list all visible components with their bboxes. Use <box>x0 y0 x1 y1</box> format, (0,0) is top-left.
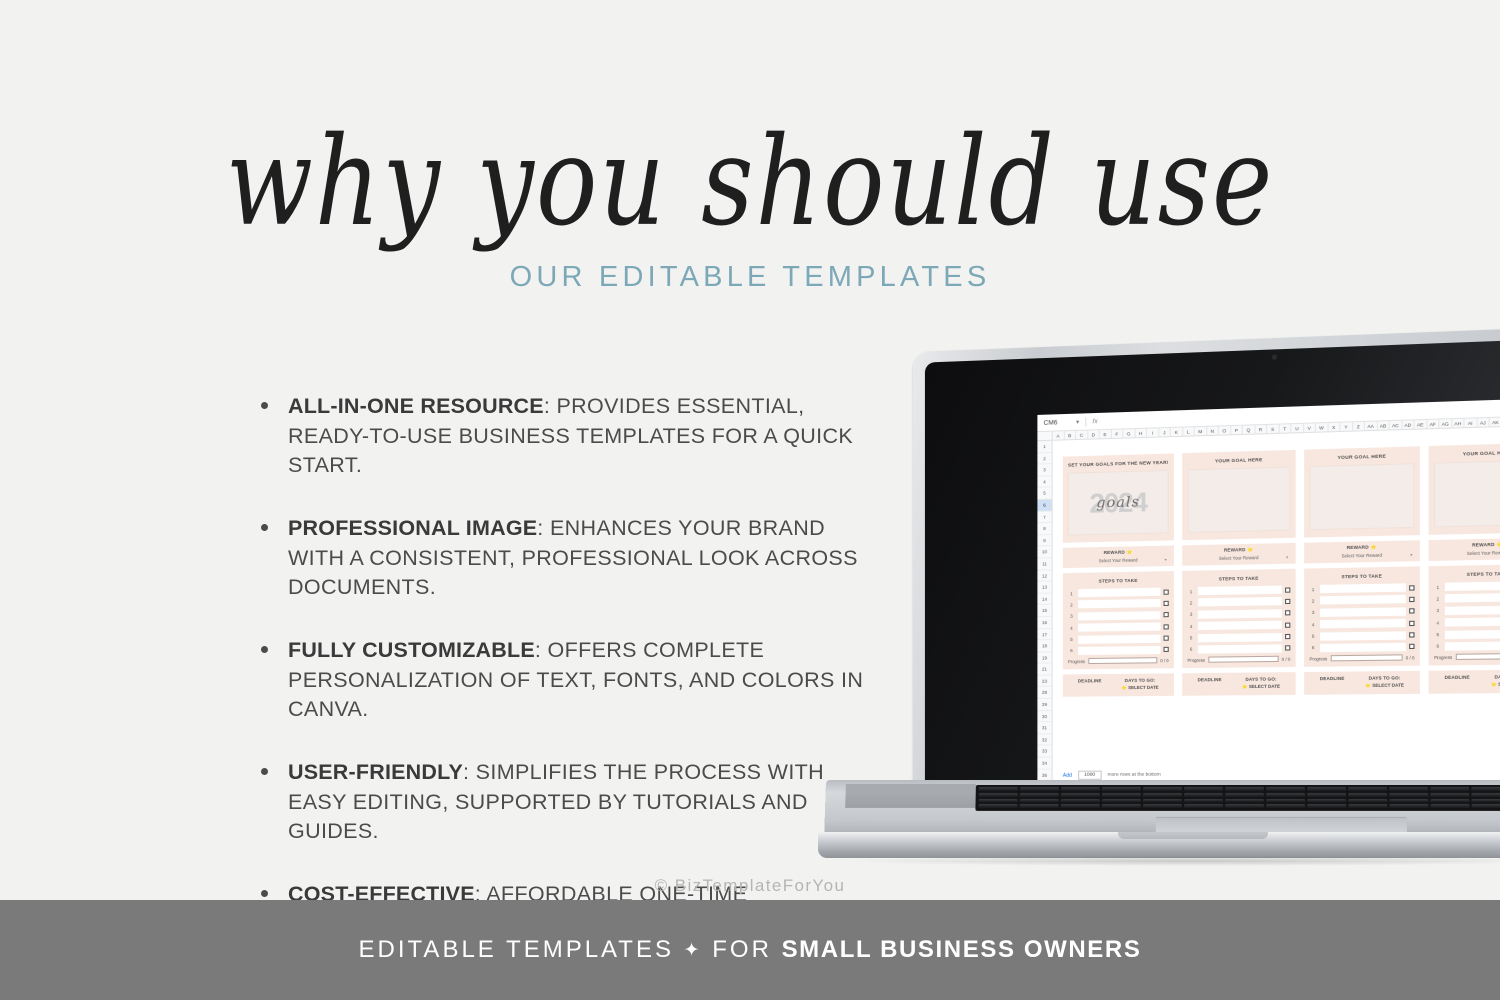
spreadsheet-app: CM6 ▾ fx ABCDEFGHIJKLMNOPQRSTUVWXYZAAABA… <box>1037 395 1500 784</box>
keyboard-key <box>1430 793 1469 798</box>
column-header-cell[interactable]: AB <box>1377 421 1389 430</box>
step-number: 6 <box>1068 648 1075 653</box>
step-input[interactable] <box>1198 621 1282 630</box>
keyboard-key <box>1307 793 1346 798</box>
step-row: 5 <box>1187 632 1290 642</box>
reward-label: REWARD <box>1224 547 1246 553</box>
step-checkbox[interactable] <box>1409 632 1414 637</box>
goal-card-title[interactable]: YOUR GOAL HERE <box>1187 456 1290 464</box>
deadline-section: DEADLINEDAYS TO GO:⭐ SELECT DATE <box>1063 674 1174 697</box>
row-header-cell[interactable]: 15 <box>1037 605 1051 617</box>
bullet-dot-icon <box>261 402 268 409</box>
column-header-cell[interactable]: V <box>1304 423 1316 432</box>
keyboard-key <box>1389 793 1428 798</box>
days-to-go-label: DAYS TO GO: <box>1121 678 1158 683</box>
step-input[interactable] <box>1445 617 1500 627</box>
step-input[interactable] <box>1320 583 1406 593</box>
step-number: 5 <box>1187 635 1194 640</box>
keyboard-key <box>1061 798 1100 803</box>
footer-lead-text: EDITABLE TEMPLATES <box>359 936 674 963</box>
bullet-dot-icon <box>261 768 268 775</box>
step-input[interactable] <box>1320 595 1406 605</box>
step-input[interactable] <box>1320 607 1406 617</box>
keyboard-row <box>978 804 1500 809</box>
deadline-label: DEADLINE <box>1445 675 1470 680</box>
step-input[interactable] <box>1320 619 1406 629</box>
keyboard-key <box>1472 804 1500 809</box>
step-row: 5 <box>1434 629 1500 639</box>
spreadsheet-grid[interactable]: SET YOUR GOALS FOR THE NEW YEAR!2024goal… <box>1053 423 1500 784</box>
reward-select-value: Select Your Reward <box>1219 555 1259 561</box>
step-number: 1 <box>1434 584 1442 589</box>
keyboard-key <box>1184 798 1223 803</box>
select-date-label: SELECT DATE <box>1128 685 1159 690</box>
select-date-button[interactable]: ⭐ SELECT DATE <box>1491 682 1500 689</box>
column-header-cell[interactable]: AJ <box>1477 418 1490 427</box>
star-icon: ⭐ <box>1365 683 1372 688</box>
row-header-cell[interactable]: 11 <box>1037 558 1051 570</box>
step-input[interactable] <box>1320 643 1406 652</box>
row-header-cell[interactable]: 10 <box>1037 546 1051 558</box>
step-checkbox[interactable] <box>1409 609 1414 614</box>
keyboard-key <box>1225 793 1264 798</box>
step-row: 4 <box>1068 622 1169 632</box>
select-date-button[interactable]: ⭐ SELECT DATE <box>1242 684 1280 691</box>
step-row: 4 <box>1434 617 1500 627</box>
keyboard-key <box>1430 798 1469 803</box>
steps-heading: STEPS TO TAKE <box>1187 575 1290 582</box>
select-date-label: SELECT DATE <box>1249 684 1280 689</box>
formula-fx-icon: fx <box>1092 418 1097 425</box>
keyboard-key <box>1225 787 1264 792</box>
step-input[interactable] <box>1198 644 1282 653</box>
keyboard-key <box>1184 793 1223 798</box>
step-checkbox[interactable] <box>1409 597 1414 602</box>
deadline-label: DEADLINE <box>1320 676 1345 681</box>
keyboard-key <box>979 798 1018 803</box>
column-header-cell[interactable]: Q <box>1243 425 1255 434</box>
toolbar-divider <box>1085 417 1086 426</box>
column-header-cell[interactable]: F <box>1111 429 1123 438</box>
reward-select-value: Select Your Reward <box>1342 553 1382 559</box>
steps-section: STEPS TO TAKE123456Progress0 / 0 <box>1429 564 1500 666</box>
chevron-down-icon[interactable]: ▾ <box>1286 554 1288 559</box>
step-number: 4 <box>1434 620 1442 625</box>
row-header-cell[interactable]: 16 <box>1037 617 1051 629</box>
keyboard-key <box>1348 793 1387 798</box>
add-rows-count-input[interactable]: 1000 <box>1078 771 1101 780</box>
row-header-cell[interactable]: 5 <box>1037 488 1051 500</box>
reward-section: REWARD ⭐Select Your Reward▾ <box>1429 538 1500 561</box>
step-input[interactable] <box>1445 641 1500 650</box>
row-header-cell[interactable]: 30 <box>1037 711 1051 723</box>
star-icon: ⭐ <box>1121 685 1128 690</box>
row-header-cell[interactable]: 2 <box>1037 453 1051 465</box>
row-header-cell[interactable]: 31 <box>1037 722 1051 734</box>
reward-label: REWARD <box>1104 550 1125 556</box>
keyboard-row <box>979 798 1500 803</box>
keyboard-key <box>1143 798 1182 803</box>
row-header-cell[interactable]: 9 <box>1037 535 1051 547</box>
column-header-cell[interactable]: C <box>1076 431 1088 439</box>
step-input[interactable] <box>1445 629 1500 639</box>
step-checkbox[interactable] <box>1164 601 1169 606</box>
column-header-cell[interactable]: Z <box>1353 422 1365 431</box>
column-header-cell[interactable]: L <box>1183 427 1195 436</box>
step-input[interactable] <box>1198 586 1282 596</box>
row-header-cell[interactable]: 19 <box>1037 652 1051 664</box>
keyboard-key <box>1020 798 1059 803</box>
reward-select-value: Select Your Reward <box>1467 550 1500 556</box>
steps-section: STEPS TO TAKE123456Progress0 / 0 <box>1063 571 1174 670</box>
column-header-cell[interactable]: U <box>1291 424 1303 433</box>
keyboard-key <box>1348 787 1387 792</box>
step-input[interactable] <box>1078 599 1160 608</box>
row-header-cell[interactable]: 17 <box>1037 629 1051 641</box>
progress-value: 0 / 0 <box>1406 655 1415 660</box>
progress-label: Progress <box>1309 656 1327 661</box>
bullet-dot-icon <box>261 646 268 653</box>
benefit-term: PROFESSIONAL IMAGE <box>288 516 537 540</box>
poster-canvas: why you should use OUR EDITABLE TEMPLATE… <box>0 0 1500 1000</box>
column-header-cell[interactable]: AC <box>1390 421 1402 430</box>
column-header-cell[interactable]: O <box>1219 426 1231 435</box>
step-checkbox[interactable] <box>1409 620 1414 625</box>
step-checkbox[interactable] <box>1409 644 1414 649</box>
keyboard-key <box>1143 804 1182 809</box>
row-header-cell[interactable]: 13 <box>1037 582 1051 594</box>
column-header-cell[interactable]: T <box>1279 424 1291 433</box>
step-checkbox[interactable] <box>1409 585 1414 590</box>
step-input[interactable] <box>1445 605 1500 615</box>
reward-heading: REWARD ⭐ <box>1187 546 1290 554</box>
keyboard-key <box>1266 793 1305 798</box>
year-script-word: goals <box>1074 485 1162 520</box>
goal-card-image-area[interactable] <box>1434 460 1500 528</box>
step-checkbox[interactable] <box>1164 612 1169 617</box>
column-header-cell[interactable]: AH <box>1452 419 1465 428</box>
column-header-cell[interactable]: AA <box>1365 422 1377 431</box>
step-number: 5 <box>1068 637 1075 642</box>
column-header-cell[interactable]: A <box>1053 431 1065 439</box>
step-checkbox[interactable] <box>1164 647 1169 652</box>
keyboard-key <box>1471 798 1500 803</box>
steps-heading: STEPS TO TAKE <box>1309 573 1414 580</box>
keyboard-key <box>1225 804 1264 809</box>
step-row: 6 <box>1187 644 1290 653</box>
column-header-cell[interactable]: R <box>1255 425 1267 434</box>
step-input[interactable] <box>1320 631 1406 640</box>
row-header-cell[interactable]: 33 <box>1037 746 1051 758</box>
step-checkbox[interactable] <box>1285 587 1290 592</box>
step-number: 2 <box>1068 602 1075 607</box>
keyboard-key <box>979 787 1018 792</box>
column-header-cell[interactable]: Y <box>1340 422 1352 431</box>
step-checkbox[interactable] <box>1285 599 1290 604</box>
reward-select[interactable]: Select Your Reward▾ <box>1309 552 1414 559</box>
step-row: 3 <box>1068 611 1169 621</box>
progress-bar <box>1330 655 1402 662</box>
goal-card-title[interactable]: YOUR GOAL HERE <box>1434 449 1500 457</box>
column-header-cell[interactable]: N <box>1207 426 1219 435</box>
step-row: 3 <box>1434 605 1500 615</box>
step-number: 6 <box>1187 647 1194 652</box>
reward-heading: REWARD ⭐ <box>1068 549 1169 557</box>
footer-bar: EDITABLE TEMPLATES ✦ FOR SMALL BUSINESS … <box>0 900 1500 1000</box>
column-header-cell[interactable]: B <box>1064 431 1076 439</box>
reward-label: REWARD <box>1347 544 1369 550</box>
steps-section: STEPS TO TAKE123456Progress0 / 0 <box>1304 566 1420 667</box>
laptop-bezel: CM6 ▾ fx ABCDEFGHIJKLMNOPQRSTUVWXYZAAABA… <box>925 335 1500 788</box>
row-header-cell[interactable]: 3 <box>1037 464 1051 476</box>
days-to-go-block: DAYS TO GO:⭐ SELECT DATE <box>1491 674 1500 688</box>
progress-row: Progress0 / 0 <box>1434 653 1500 661</box>
column-header-cell[interactable]: AK <box>1490 418 1500 427</box>
column-header-cell[interactable]: G <box>1123 429 1135 438</box>
days-to-go-block: DAYS TO GO:⭐ SELECT DATE <box>1365 676 1404 690</box>
row-header-cell[interactable]: 6 <box>1037 499 1051 511</box>
steps-heading: STEPS TO TAKE <box>1068 577 1169 584</box>
step-input[interactable] <box>1078 611 1160 620</box>
column-header-cell[interactable]: AG <box>1439 419 1452 428</box>
goal-card: YOUR GOAL HEREREWARD ⭐Select Your Reward… <box>1304 446 1420 695</box>
chevron-down-icon[interactable]: ▾ <box>1410 552 1412 557</box>
step-input[interactable] <box>1078 588 1160 598</box>
chevron-down-icon[interactable]: ▾ <box>1076 418 1079 425</box>
steps-heading: STEPS TO TAKE <box>1434 570 1500 577</box>
keyboard-key <box>1266 787 1305 792</box>
reward-select[interactable]: Select Your Reward▾ <box>1434 549 1500 556</box>
deadline-section: DEADLINEDAYS TO GO:⭐ SELECT DATE <box>1182 672 1295 696</box>
step-input[interactable] <box>1445 593 1500 603</box>
days-to-go-label: DAYS TO GO: <box>1365 676 1404 682</box>
step-checkbox[interactable] <box>1285 646 1290 651</box>
reward-label: REWARD <box>1472 542 1495 548</box>
keyboard-key <box>1061 787 1100 792</box>
row-header-cell[interactable]: 14 <box>1037 593 1051 605</box>
column-header-cell[interactable]: S <box>1267 425 1279 434</box>
keyboard-key <box>1061 793 1100 798</box>
keyboard-key <box>1389 804 1428 809</box>
step-number: 1 <box>1187 589 1194 594</box>
goal-card: SET YOUR GOALS FOR THE NEW YEAR!2024goal… <box>1063 453 1174 697</box>
benefit-item: USER-FRIENDLY: SIMPLIFIES THE PROCESS WI… <box>258 758 868 847</box>
step-row: 1 <box>1187 585 1290 595</box>
column-header-cell[interactable]: D <box>1088 430 1100 438</box>
keyboard-key <box>1430 804 1469 809</box>
step-row: 6 <box>1309 643 1414 653</box>
step-input[interactable] <box>1198 597 1282 607</box>
row-header-cell[interactable]: 1 <box>1037 441 1051 453</box>
column-header-cell[interactable]: X <box>1328 423 1340 432</box>
laptop-keyboard <box>975 785 1500 811</box>
select-all-corner[interactable] <box>1037 432 1052 441</box>
keyboard-key <box>1307 804 1346 809</box>
step-row: 3 <box>1187 609 1290 619</box>
step-input[interactable] <box>1078 623 1160 632</box>
benefit-term: FULLY CUSTOMIZABLE <box>288 638 535 662</box>
keyboard-key <box>1143 787 1182 792</box>
days-to-go-block: DAYS TO GO:⭐ SELECT DATE <box>1242 677 1280 691</box>
keyboard-key <box>1389 798 1428 803</box>
column-header-cell[interactable]: AE <box>1415 420 1427 429</box>
benefit-item: PROFESSIONAL IMAGE: ENHANCES YOUR BRAND … <box>258 514 868 603</box>
column-header-cell[interactable]: P <box>1231 426 1243 435</box>
step-number: 2 <box>1187 600 1194 605</box>
cell-name-box[interactable]: CM6 <box>1044 418 1070 426</box>
step-number: 2 <box>1309 598 1316 603</box>
step-checkbox[interactable] <box>1285 634 1290 639</box>
row-header-column: 1234567891011121314151617181921232829303… <box>1037 441 1052 784</box>
benefit-item: FULLY CUSTOMIZABLE: OFFERS COMPLETE PERS… <box>258 636 868 725</box>
step-number: 4 <box>1068 625 1075 630</box>
days-to-go-label: DAYS TO GO: <box>1242 677 1280 683</box>
column-header-cell[interactable]: H <box>1135 429 1147 438</box>
progress-bar <box>1088 658 1157 665</box>
step-input[interactable] <box>1078 634 1160 643</box>
reward-section: REWARD ⭐Select Your Reward▾ <box>1063 545 1174 568</box>
step-row: 6 <box>1068 646 1169 655</box>
keyboard-key <box>1020 804 1059 809</box>
step-row: 5 <box>1068 634 1169 643</box>
benefit-item: ALL-IN-ONE RESOURCE: PROVIDES ESSENTIAL,… <box>258 392 868 481</box>
step-input[interactable] <box>1445 581 1500 591</box>
step-row: 2 <box>1068 599 1169 609</box>
footer-strong-text: SMALL BUSINESS OWNERS <box>782 936 1142 963</box>
step-checkbox[interactable] <box>1164 624 1169 629</box>
keyboard-key <box>1020 787 1059 792</box>
laptop-lid-notch <box>1118 832 1268 839</box>
watermark-credit: © BizTemplateForYou <box>0 876 1500 896</box>
progress-label: Progress <box>1434 655 1452 660</box>
step-row: 6 <box>1434 641 1500 651</box>
reward-section: REWARD ⭐Select Your Reward▾ <box>1182 543 1295 566</box>
star-icon: ⭐ <box>1491 682 1498 687</box>
column-header-cell[interactable]: M <box>1195 427 1207 436</box>
benefit-term: ALL-IN-ONE RESOURCE <box>288 394 544 418</box>
step-number: 3 <box>1187 612 1194 617</box>
step-number: 5 <box>1434 632 1442 637</box>
star-icon: ⭐ <box>1369 544 1377 549</box>
keyboard-key <box>1348 804 1387 809</box>
column-header-cell[interactable]: W <box>1316 423 1328 432</box>
step-row: 2 <box>1187 597 1290 607</box>
laptop-screen: CM6 ▾ fx ABCDEFGHIJKLMNOPQRSTUVWXYZAAABA… <box>1037 395 1500 784</box>
row-header-cell[interactable]: 18 <box>1037 640 1051 652</box>
goal-card-title[interactable]: YOUR GOAL HERE <box>1309 453 1414 461</box>
add-rows-suffix-label: more rows at the bottom <box>1107 773 1160 778</box>
select-date-button[interactable]: ⭐ SELECT DATE <box>1121 685 1158 691</box>
reward-heading: REWARD ⭐ <box>1434 541 1500 550</box>
keyboard-key <box>1266 798 1305 803</box>
column-header-cell[interactable]: AI <box>1464 418 1477 427</box>
keyboard-key <box>1471 787 1500 792</box>
add-rows-link[interactable]: Add <box>1063 772 1072 778</box>
star-icon: ⭐ <box>1242 684 1249 689</box>
speaker-grille <box>845 784 976 808</box>
row-header-cell[interactable]: 12 <box>1037 570 1051 582</box>
goal-cards-container: SET YOUR GOALS FOR THE NEW YEAR!2024goal… <box>1063 440 1500 697</box>
keyboard-row <box>979 787 1500 792</box>
goal-card-header: YOUR GOAL HERE <box>1429 443 1500 535</box>
progress-row: Progress0 / 0 <box>1309 655 1414 662</box>
step-number: 4 <box>1187 624 1194 629</box>
benefit-term: USER-FRIENDLY <box>288 760 463 784</box>
days-to-go-label: DAYS TO GO: <box>1491 674 1500 680</box>
step-checkbox[interactable] <box>1164 636 1169 641</box>
step-row: 3 <box>1309 607 1414 617</box>
row-header-cell[interactable]: 21 <box>1037 664 1051 676</box>
row-header-cell[interactable]: 7 <box>1037 511 1051 523</box>
deadline-label: DEADLINE <box>1198 677 1222 682</box>
deadline-section: DEADLINEDAYS TO GO:⭐ SELECT DATE <box>1429 670 1500 694</box>
step-number: 4 <box>1309 622 1316 627</box>
column-header-cell[interactable]: I <box>1147 428 1159 437</box>
step-number: 3 <box>1309 610 1316 615</box>
column-header-cell[interactable]: E <box>1100 430 1112 438</box>
keyboard-key <box>1102 804 1141 809</box>
column-header-cell[interactable]: K <box>1171 428 1183 437</box>
reward-select[interactable]: Select Your Reward▾ <box>1187 554 1290 561</box>
goal-card-image-area[interactable]: 2024goals <box>1068 470 1169 536</box>
keyboard-key <box>1184 787 1223 792</box>
step-input[interactable] <box>1198 609 1282 619</box>
row-header-cell[interactable]: 8 <box>1037 523 1051 535</box>
step-checkbox[interactable] <box>1164 589 1169 594</box>
progress-value: 0 / 0 <box>1282 657 1291 662</box>
star-icon: ⭐ <box>1495 542 1500 547</box>
add-rows-control: Add 1000 more rows at the bottom <box>1063 771 1161 780</box>
keyboard-row <box>979 793 1500 798</box>
reward-section: REWARD ⭐Select Your Reward▾ <box>1304 540 1420 563</box>
progress-bar <box>1456 653 1500 660</box>
spreadsheet-grid-wrapper: 1234567891011121314151617181921232829303… <box>1037 423 1500 784</box>
goal-card-title[interactable]: SET YOUR GOALS FOR THE NEW YEAR! <box>1068 460 1169 468</box>
column-header-cell[interactable]: AF <box>1427 420 1439 429</box>
column-header-cell[interactable]: AD <box>1402 420 1414 429</box>
progress-label: Progress <box>1068 659 1085 664</box>
select-date-button[interactable]: ⭐ SELECT DATE <box>1365 683 1404 690</box>
step-input[interactable] <box>1078 646 1160 655</box>
row-header-cell[interactable]: 32 <box>1037 734 1051 746</box>
step-checkbox[interactable] <box>1285 610 1290 615</box>
chevron-down-icon[interactable]: ▾ <box>1165 557 1167 562</box>
row-header-cell[interactable]: 4 <box>1037 476 1051 488</box>
step-checkbox[interactable] <box>1285 622 1290 627</box>
keyboard-key <box>1225 798 1264 803</box>
row-header-cell[interactable]: 23 <box>1037 675 1051 687</box>
keyboard-key <box>978 804 1017 809</box>
reward-select[interactable]: Select Your Reward▾ <box>1068 557 1169 564</box>
page-subtitle: OUR EDITABLE TEMPLATES <box>0 261 1500 294</box>
row-header-cell[interactable]: 34 <box>1037 758 1051 770</box>
column-header-cell[interactable]: J <box>1159 428 1171 437</box>
progress-bar <box>1208 656 1278 663</box>
step-number: 1 <box>1068 591 1075 596</box>
row-header-cell[interactable]: 29 <box>1037 699 1051 711</box>
goal-card-image-area[interactable] <box>1187 467 1290 533</box>
step-input[interactable] <box>1198 633 1282 642</box>
keyboard-key <box>979 793 1018 798</box>
diamond-icon: ✦ <box>684 940 703 961</box>
row-header-cell[interactable]: 28 <box>1037 687 1051 699</box>
keyboard-key <box>1143 793 1182 798</box>
step-row: 2 <box>1309 595 1414 605</box>
goal-card-image-area[interactable] <box>1309 463 1414 530</box>
star-icon: ⭐ <box>1246 547 1254 552</box>
goal-card-header: YOUR GOAL HERE <box>1304 446 1420 537</box>
bullet-dot-icon <box>261 524 268 531</box>
